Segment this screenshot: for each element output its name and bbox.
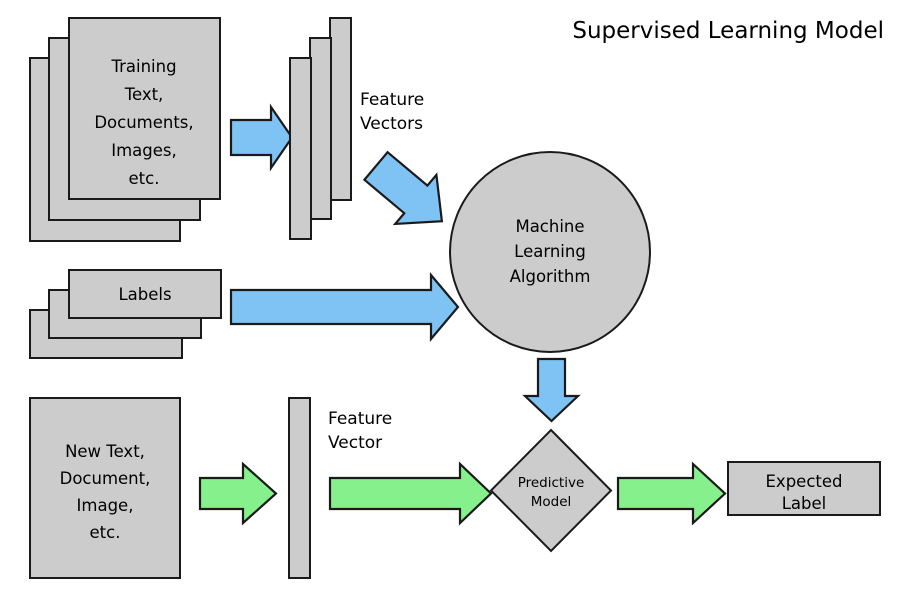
ml-algorithm-line-3: Algorithm <box>510 267 591 286</box>
expected-label-node: Expected Label <box>728 462 880 515</box>
training-doc-line-4: Images, <box>111 141 177 160</box>
feature-vector-label-line-1: Feature <box>328 409 392 429</box>
feature-vectors-stack <box>290 18 351 239</box>
machine-learning-algorithm-node: Machine Learning Algorithm <box>450 152 650 352</box>
ml-algorithm-line-1: Machine <box>515 217 584 236</box>
predictive-model-line-2: Model <box>531 494 572 510</box>
diagram-canvas: Supervised Learning Model Training Text,… <box>0 0 900 600</box>
arrow-algorithm-to-predictive-model <box>525 359 578 421</box>
new-input-line-3: Image, <box>77 496 134 515</box>
arrow-feature-vector-to-predictive-model <box>330 464 491 523</box>
feature-vector-bar <box>289 398 310 578</box>
training-doc-line-1: Training <box>110 57 176 76</box>
new-input-line-2: Document, <box>60 469 151 488</box>
ml-algorithm-line-2: Learning <box>514 242 586 261</box>
labels-stack: Labels <box>30 270 221 358</box>
arrow-predictive-model-to-expected-label <box>618 464 725 523</box>
predictive-model-node: Predictive Model <box>491 430 611 551</box>
arrow-features-to-algorithm-group <box>355 141 462 245</box>
arrow-new-input-to-feature-vector <box>200 464 276 523</box>
diagram-title: Supervised Learning Model <box>572 18 884 44</box>
supervised-learning-diagram: Supervised Learning Model Training Text,… <box>0 0 900 600</box>
feature-vectors-label-line-1: Feature <box>360 90 424 110</box>
training-doc-line-3: Documents, <box>94 113 193 132</box>
new-input-box <box>30 398 180 578</box>
labels-text: Labels <box>118 285 171 304</box>
feature-vector-bar-back <box>330 18 351 200</box>
arrow-labels-to-algorithm <box>231 275 458 339</box>
feature-vector-bar-middle <box>310 38 331 219</box>
training-doc-line-2: Text, <box>124 85 164 104</box>
expected-label-line-2: Label <box>782 494 827 513</box>
feature-vectors-label-line-2: Vectors <box>360 114 423 134</box>
arrow-features-to-algorithm <box>355 141 462 245</box>
training-doc-line-5: etc. <box>129 169 160 188</box>
new-input-node: New Text, Document, Image, etc. <box>30 398 180 578</box>
predictive-model-line-1: Predictive <box>518 475 585 491</box>
feature-vector-bar-front <box>290 58 311 239</box>
expected-label-line-1: Expected <box>766 472 843 491</box>
arrow-training-to-features <box>231 107 292 168</box>
training-documents-stack: Training Text, Documents, Images, etc. <box>30 18 220 241</box>
new-input-line-1: New Text, <box>65 442 145 461</box>
feature-vector-label-line-2: Vector <box>328 433 382 453</box>
new-input-line-4: etc. <box>90 523 121 542</box>
